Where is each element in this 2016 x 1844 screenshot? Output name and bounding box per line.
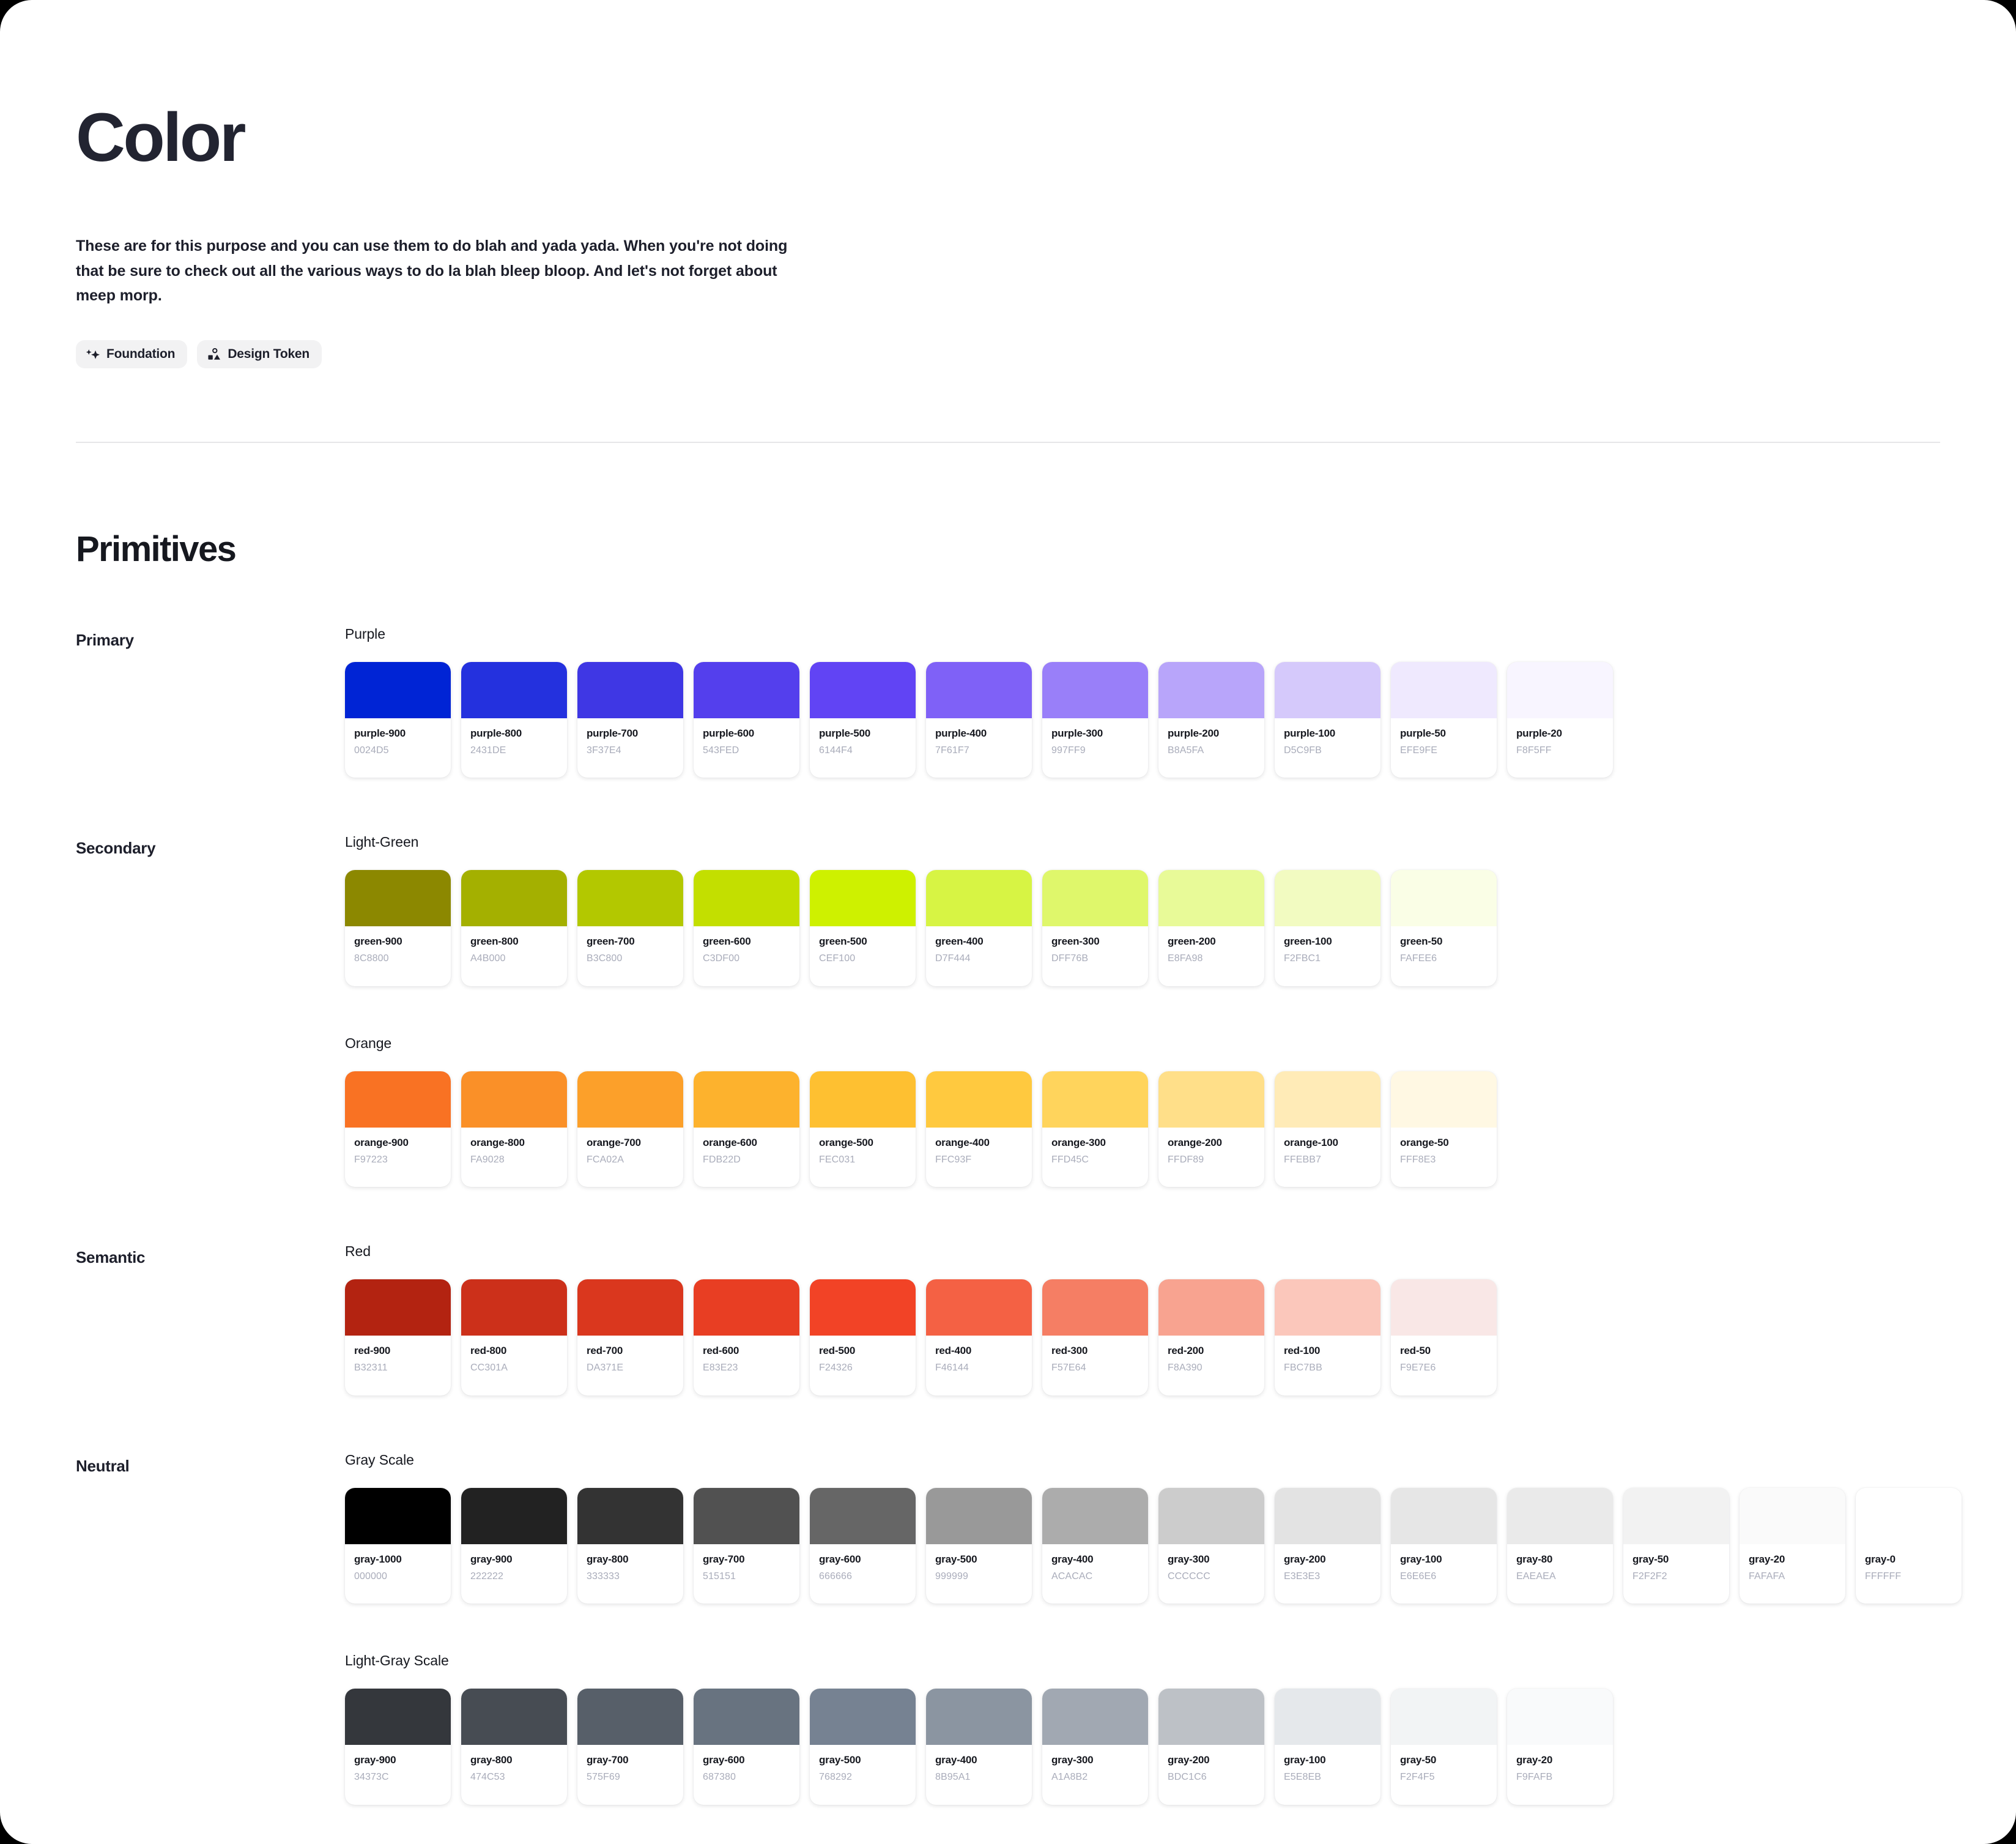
swatch-color-chip — [345, 1279, 451, 1336]
swatch-hex-value: F46144 — [935, 1361, 1023, 1375]
swatch-meta: orange-800FA9028 — [461, 1128, 567, 1188]
swatch-color-chip — [1507, 662, 1613, 718]
swatch-token-name: gray-800 — [470, 1753, 558, 1768]
swatch-meta: gray-800474C53 — [461, 1745, 567, 1805]
color-swatch[interactable]: gray-200E3E3E3 — [1275, 1488, 1380, 1604]
swatch-token-name: gray-300 — [1168, 1553, 1255, 1567]
swatch-token-name: orange-900 — [354, 1136, 442, 1150]
swatch-color-chip — [1391, 1071, 1497, 1128]
swatch-hex-value: 7F61F7 — [935, 744, 1023, 757]
swatch-hex-value: 8B95A1 — [935, 1771, 1023, 1784]
color-swatch[interactable]: green-300DFF76B — [1042, 870, 1148, 986]
swatch-hex-value: EAEAEA — [1516, 1570, 1604, 1583]
swatch-color-chip — [1158, 1689, 1264, 1745]
color-ramp-red: Redred-900B32311red-800CC301Ared-700DA37… — [345, 1243, 1940, 1396]
swatch-meta: orange-500FEC031 — [810, 1128, 916, 1188]
swatch-color-chip — [694, 870, 799, 926]
color-swatch[interactable]: purple-100D5C9FB — [1275, 662, 1380, 778]
color-swatch[interactable]: gray-300A1A8B2 — [1042, 1689, 1148, 1805]
swatch-meta: orange-200FFDF89 — [1158, 1128, 1264, 1188]
color-swatch[interactable]: orange-900F97223 — [345, 1071, 451, 1188]
color-swatch[interactable]: green-700B3C800 — [577, 870, 683, 986]
swatch-color-chip — [926, 1071, 1032, 1128]
color-swatch[interactable]: gray-80EAEAEA — [1507, 1488, 1613, 1604]
swatch-token-name: purple-300 — [1051, 727, 1139, 741]
color-swatch[interactable]: gray-4008B95A1 — [926, 1689, 1032, 1805]
swatch-color-chip — [926, 1488, 1032, 1544]
swatch-row: gray-90034373Cgray-800474C53gray-700575F… — [345, 1689, 1940, 1805]
swatch-hex-value: BDC1C6 — [1168, 1771, 1255, 1784]
swatch-token-name: green-200 — [1168, 935, 1255, 949]
swatch-token-name: green-300 — [1051, 935, 1139, 949]
swatch-color-chip — [345, 1488, 451, 1544]
color-swatch[interactable]: orange-500FEC031 — [810, 1071, 916, 1188]
color-swatch[interactable]: red-800CC301A — [461, 1279, 567, 1396]
swatch-row: gray-1000000000gray-900222222gray-800333… — [345, 1488, 1940, 1604]
swatch-meta: purple-20F8F5FF — [1507, 718, 1613, 778]
swatch-meta: red-500F24326 — [810, 1336, 916, 1396]
swatch-token-name: gray-900 — [354, 1753, 442, 1768]
color-ramp-light-green: Light-Greengreen-9008C8800green-800A4B00… — [345, 834, 1940, 986]
swatch-meta: green-200E8FA98 — [1158, 926, 1264, 986]
swatch-color-chip — [1391, 870, 1497, 926]
color-swatch[interactable]: green-400D7F444 — [926, 870, 1032, 986]
color-swatch[interactable]: gray-800333333 — [577, 1488, 683, 1604]
color-swatch[interactable]: red-500F24326 — [810, 1279, 916, 1396]
color-swatch[interactable]: red-400F46144 — [926, 1279, 1032, 1396]
swatch-hex-value: FA9028 — [470, 1153, 558, 1167]
swatch-hex-value: DA371E — [587, 1361, 674, 1375]
swatch-meta: red-600E83E23 — [694, 1336, 799, 1396]
swatch-hex-value: 687380 — [703, 1771, 790, 1784]
swatch-meta: gray-600666666 — [810, 1544, 916, 1604]
color-swatch[interactable]: orange-300FFD45C — [1042, 1071, 1148, 1188]
swatch-token-name: green-100 — [1284, 935, 1371, 949]
swatch-color-chip — [1042, 1689, 1148, 1745]
swatch-color-chip — [1856, 1488, 1962, 1544]
swatch-token-name: orange-50 — [1400, 1136, 1488, 1150]
swatch-token-name: gray-50 — [1632, 1553, 1720, 1567]
swatch-meta: gray-90034373C — [345, 1745, 451, 1805]
color-swatch[interactable]: gray-300CCCCCC — [1158, 1488, 1264, 1604]
swatch-meta: green-600C3DF00 — [694, 926, 799, 986]
swatch-meta: green-300DFF76B — [1042, 926, 1148, 986]
ramp-name: Gray Scale — [345, 1452, 1940, 1468]
swatch-hex-value: F9FAFB — [1516, 1771, 1604, 1784]
swatch-meta: orange-600FDB22D — [694, 1128, 799, 1188]
color-swatch[interactable]: gray-400ACACAC — [1042, 1488, 1148, 1604]
swatch-hex-value: 222222 — [470, 1570, 558, 1583]
badge-design-token[interactable]: Design Token — [197, 340, 322, 368]
color-swatch[interactable]: gray-500768292 — [810, 1689, 916, 1805]
color-group-semantic: SemanticRedred-900B32311red-800CC301Ared… — [76, 1243, 1940, 1396]
swatch-token-name: red-500 — [819, 1344, 906, 1358]
color-swatch[interactable]: gray-90034373C — [345, 1689, 451, 1805]
swatch-token-name: gray-100 — [1400, 1553, 1488, 1567]
swatch-token-name: orange-700 — [587, 1136, 674, 1150]
color-swatch[interactable]: orange-50FFF8E3 — [1391, 1071, 1497, 1188]
swatch-token-name: gray-400 — [935, 1753, 1023, 1768]
swatch-meta: red-800CC301A — [461, 1336, 567, 1396]
group-label: Primary — [76, 626, 345, 650]
swatch-color-chip — [1391, 1689, 1497, 1745]
swatch-meta: green-400D7F444 — [926, 926, 1032, 986]
swatch-color-chip — [1158, 1279, 1264, 1336]
color-swatch[interactable]: gray-50F2F4F5 — [1391, 1689, 1497, 1805]
swatch-color-chip — [1507, 1689, 1613, 1745]
swatch-color-chip — [1391, 662, 1497, 718]
badge-foundation[interactable]: Foundation — [76, 340, 187, 368]
swatch-meta: green-50FAFEE6 — [1391, 926, 1497, 986]
swatch-meta: red-400F46144 — [926, 1336, 1032, 1396]
swatch-meta: purple-8002431DE — [461, 718, 567, 778]
swatch-color-chip — [461, 870, 567, 926]
swatch-token-name: gray-20 — [1749, 1553, 1836, 1567]
color-swatch[interactable]: green-100F2FBC1 — [1275, 870, 1380, 986]
swatch-color-chip — [810, 870, 916, 926]
swatch-hex-value: C3DF00 — [703, 952, 790, 965]
swatch-meta: red-700DA371E — [577, 1336, 683, 1396]
swatch-token-name: gray-20 — [1516, 1753, 1604, 1768]
swatch-color-chip — [461, 1279, 567, 1336]
swatch-token-name: gray-500 — [935, 1553, 1023, 1567]
swatch-token-name: green-400 — [935, 935, 1023, 949]
color-swatch[interactable]: orange-200FFDF89 — [1158, 1071, 1264, 1188]
color-swatch[interactable]: gray-50F2F2F2 — [1623, 1488, 1729, 1604]
swatch-hex-value: E5E8EB — [1284, 1771, 1371, 1784]
swatch-color-chip — [345, 1689, 451, 1745]
swatch-meta: gray-700515151 — [694, 1544, 799, 1604]
swatch-token-name: orange-200 — [1168, 1136, 1255, 1150]
swatch-meta: purple-50EFE9FE — [1391, 718, 1497, 778]
swatch-token-name: gray-800 — [587, 1553, 674, 1567]
swatch-color-chip — [1507, 1488, 1613, 1544]
swatch-token-name: orange-100 — [1284, 1136, 1371, 1150]
swatch-meta: green-500CEF100 — [810, 926, 916, 986]
swatch-hex-value: CC301A — [470, 1361, 558, 1375]
swatch-meta: gray-200E3E3E3 — [1275, 1544, 1380, 1604]
swatch-meta: gray-400ACACAC — [1042, 1544, 1148, 1604]
swatch-hex-value: F2F2F2 — [1632, 1570, 1720, 1583]
color-ramp-purple: Purplepurple-9000024D5purple-8002431DEpu… — [345, 626, 1940, 778]
swatch-hex-value: F2F4F5 — [1400, 1771, 1488, 1784]
swatch-color-chip — [1158, 1488, 1264, 1544]
swatch-meta: gray-20FAFAFA — [1740, 1544, 1845, 1604]
color-swatch[interactable]: red-200F8A390 — [1158, 1279, 1264, 1396]
page-title: Color — [76, 103, 1940, 173]
swatch-hex-value: A4B000 — [470, 952, 558, 965]
group-label: Neutral — [76, 1452, 345, 1476]
swatch-token-name: green-900 — [354, 935, 442, 949]
color-swatch[interactable]: gray-500999999 — [926, 1488, 1032, 1604]
swatch-hex-value: FFDF89 — [1168, 1153, 1255, 1167]
swatch-hex-value: FFFFFF — [1865, 1570, 1952, 1583]
swatch-hex-value: FDB22D — [703, 1153, 790, 1167]
swatch-row: purple-9000024D5purple-8002431DEpurple-7… — [345, 662, 1940, 778]
swatch-token-name: purple-200 — [1168, 727, 1255, 741]
swatch-token-name: gray-700 — [587, 1753, 674, 1768]
swatch-hex-value: FEC031 — [819, 1153, 906, 1167]
swatch-token-name: green-800 — [470, 935, 558, 949]
swatch-meta: gray-700575F69 — [577, 1745, 683, 1805]
swatch-hex-value: FFD45C — [1051, 1153, 1139, 1167]
swatch-color-chip — [1042, 662, 1148, 718]
color-swatch[interactable]: gray-200BDC1C6 — [1158, 1689, 1264, 1805]
swatch-color-chip — [345, 1071, 451, 1128]
swatch-meta: orange-300FFD45C — [1042, 1128, 1148, 1188]
swatch-hex-value: DFF76B — [1051, 952, 1139, 965]
swatch-color-chip — [577, 1279, 683, 1336]
color-group-primary: PrimaryPurplepurple-9000024D5purple-8002… — [76, 626, 1940, 778]
color-ramp-gray-scale: Gray Scalegray-1000000000gray-900222222g… — [345, 1452, 1940, 1604]
color-swatch[interactable]: gray-100E5E8EB — [1275, 1689, 1380, 1805]
swatch-meta: red-50F9E7E6 — [1391, 1336, 1497, 1396]
swatch-hex-value: 000000 — [354, 1570, 442, 1583]
swatch-meta: orange-900F97223 — [345, 1128, 451, 1188]
swatch-color-chip — [694, 1279, 799, 1336]
swatch-hex-value: E83E23 — [703, 1361, 790, 1375]
swatch-meta: gray-200BDC1C6 — [1158, 1745, 1264, 1805]
color-group-neutral: NeutralGray Scalegray-1000000000gray-900… — [76, 1452, 1940, 1805]
color-swatch[interactable]: green-800A4B000 — [461, 870, 567, 986]
swatch-token-name: green-700 — [587, 935, 674, 949]
color-swatch[interactable]: gray-700515151 — [694, 1488, 799, 1604]
swatch-token-name: orange-400 — [935, 1136, 1023, 1150]
swatch-color-chip — [1158, 1071, 1264, 1128]
swatch-meta: gray-300CCCCCC — [1158, 1544, 1264, 1604]
swatch-token-name: red-700 — [587, 1344, 674, 1358]
header-divider — [76, 442, 1940, 443]
swatch-hex-value: B3C800 — [587, 952, 674, 965]
color-swatch[interactable]: purple-600543FED — [694, 662, 799, 778]
color-swatch[interactable]: red-600E83E23 — [694, 1279, 799, 1396]
swatch-token-name: red-600 — [703, 1344, 790, 1358]
group-label: Semantic — [76, 1243, 345, 1267]
swatch-hex-value: F97223 — [354, 1153, 442, 1167]
color-group-list: PrimaryPurplepurple-9000024D5purple-8002… — [76, 626, 1940, 1844]
swatch-hex-value: F57E64 — [1051, 1361, 1139, 1375]
color-swatch[interactable]: gray-1000000000 — [345, 1488, 451, 1604]
color-swatch[interactable]: gray-20FAFAFA — [1740, 1488, 1845, 1604]
color-swatch[interactable]: purple-20F8F5FF — [1507, 662, 1613, 778]
color-swatch[interactable]: red-900B32311 — [345, 1279, 451, 1396]
swatch-token-name: purple-800 — [470, 727, 558, 741]
swatch-token-name: gray-50 — [1400, 1753, 1488, 1768]
swatch-token-name: gray-200 — [1168, 1753, 1255, 1768]
swatch-token-name: red-900 — [354, 1344, 442, 1358]
swatch-token-name: green-600 — [703, 935, 790, 949]
color-documentation-page: Color These are for this purpose and you… — [0, 0, 2016, 1844]
swatch-meta: gray-4008B95A1 — [926, 1745, 1032, 1805]
color-swatch[interactable]: purple-9000024D5 — [345, 662, 451, 778]
swatch-color-chip — [1158, 870, 1264, 926]
swatch-meta: gray-50F2F2F2 — [1623, 1544, 1729, 1604]
swatch-meta: gray-50F2F4F5 — [1391, 1745, 1497, 1805]
swatch-token-name: red-200 — [1168, 1344, 1255, 1358]
swatch-color-chip — [1042, 870, 1148, 926]
swatch-token-name: green-500 — [819, 935, 906, 949]
swatch-row: orange-900F97223orange-800FA9028orange-7… — [345, 1071, 1940, 1188]
swatch-hex-value: A1A8B2 — [1051, 1771, 1139, 1784]
swatch-hex-value: 6144F4 — [819, 744, 906, 757]
swatch-color-chip — [810, 1689, 916, 1745]
swatch-meta: purple-100D5C9FB — [1275, 718, 1380, 778]
swatch-meta: gray-100E6E6E6 — [1391, 1544, 1497, 1604]
swatch-hex-value: 0024D5 — [354, 744, 442, 757]
swatch-meta: red-300F57E64 — [1042, 1336, 1148, 1396]
color-swatch[interactable]: gray-700575F69 — [577, 1689, 683, 1805]
color-swatch[interactable]: red-100FBC7BB — [1275, 1279, 1380, 1396]
swatch-color-chip — [926, 1689, 1032, 1745]
swatch-token-name: purple-900 — [354, 727, 442, 741]
swatch-token-name: purple-50 — [1400, 727, 1488, 741]
swatch-color-chip — [577, 870, 683, 926]
color-swatch[interactable]: purple-5006144F4 — [810, 662, 916, 778]
swatch-hex-value: 34373C — [354, 1771, 442, 1784]
swatch-color-chip — [1275, 870, 1380, 926]
swatch-meta: gray-80EAEAEA — [1507, 1544, 1613, 1604]
color-swatch[interactable]: green-50FAFEE6 — [1391, 870, 1497, 986]
color-swatch[interactable]: gray-900222222 — [461, 1488, 567, 1604]
swatch-hex-value: FFF8E3 — [1400, 1153, 1488, 1167]
swatch-color-chip — [577, 1071, 683, 1128]
swatch-token-name: purple-500 — [819, 727, 906, 741]
swatch-hex-value: E3E3E3 — [1284, 1570, 1371, 1583]
swatch-color-chip — [1042, 1071, 1148, 1128]
swatch-hex-value: 768292 — [819, 1771, 906, 1784]
color-swatch[interactable]: gray-600687380 — [694, 1689, 799, 1805]
swatch-token-name: gray-100 — [1284, 1753, 1371, 1768]
swatch-meta: purple-300997FF9 — [1042, 718, 1148, 778]
color-swatch[interactable]: green-200E8FA98 — [1158, 870, 1264, 986]
color-swatch[interactable]: purple-300997FF9 — [1042, 662, 1148, 778]
swatch-hex-value: ACACAC — [1051, 1570, 1139, 1583]
swatch-color-chip — [1158, 662, 1264, 718]
swatch-color-chip — [926, 1279, 1032, 1336]
swatch-token-name: red-400 — [935, 1344, 1023, 1358]
color-swatch[interactable]: orange-400FFC93F — [926, 1071, 1032, 1188]
swatch-color-chip — [461, 1488, 567, 1544]
swatch-color-chip — [1623, 1488, 1729, 1544]
ramp-name: Light-Gray Scale — [345, 1653, 1940, 1669]
swatch-token-name: gray-500 — [819, 1753, 906, 1768]
swatch-color-chip — [1391, 1488, 1497, 1544]
swatch-meta: gray-20F9FAFB — [1507, 1745, 1613, 1805]
swatch-token-name: purple-600 — [703, 727, 790, 741]
swatch-token-name: orange-600 — [703, 1136, 790, 1150]
color-swatch[interactable]: gray-800474C53 — [461, 1689, 567, 1805]
swatch-color-chip — [1275, 1071, 1380, 1128]
color-swatch[interactable]: gray-0FFFFFF — [1856, 1488, 1962, 1604]
swatch-hex-value: E8FA98 — [1168, 952, 1255, 965]
swatch-meta: orange-400FFC93F — [926, 1128, 1032, 1188]
swatch-meta: red-200F8A390 — [1158, 1336, 1264, 1396]
swatch-meta: purple-9000024D5 — [345, 718, 451, 778]
color-ramp-orange: Orangeorange-900F97223orange-800FA9028or… — [345, 1035, 1940, 1188]
swatch-token-name: gray-1000 — [354, 1553, 442, 1567]
swatch-token-name: gray-0 — [1865, 1553, 1952, 1567]
swatch-meta: orange-700FCA02A — [577, 1128, 683, 1188]
swatch-token-name: orange-300 — [1051, 1136, 1139, 1150]
group-body: Redred-900B32311red-800CC301Ared-700DA37… — [345, 1243, 1940, 1396]
swatch-color-chip — [1275, 1689, 1380, 1745]
swatch-color-chip — [810, 1488, 916, 1544]
swatch-meta: gray-500768292 — [810, 1745, 916, 1805]
swatch-color-chip — [1391, 1279, 1497, 1336]
badge-design-token-label: Design Token — [228, 347, 309, 362]
color-swatch[interactable]: purple-7003F37E4 — [577, 662, 683, 778]
swatch-color-chip — [810, 1279, 916, 1336]
swatch-color-chip — [577, 1689, 683, 1745]
swatch-color-chip — [577, 1488, 683, 1544]
color-swatch[interactable]: green-600C3DF00 — [694, 870, 799, 986]
group-body: Gray Scalegray-1000000000gray-900222222g… — [345, 1452, 1940, 1805]
swatch-color-chip — [1275, 662, 1380, 718]
swatch-meta: gray-1000000000 — [345, 1544, 451, 1604]
swatch-token-name: purple-400 — [935, 727, 1023, 741]
color-swatch[interactable]: orange-100FFEBB7 — [1275, 1071, 1380, 1188]
swatch-meta: gray-900222222 — [461, 1544, 567, 1604]
swatch-hex-value: 999999 — [935, 1570, 1023, 1583]
color-ramp-light-gray-scale: Light-Gray Scalegray-90034373Cgray-80047… — [345, 1653, 1940, 1805]
color-swatch[interactable]: gray-20F9FAFB — [1507, 1689, 1613, 1805]
color-swatch[interactable]: red-700DA371E — [577, 1279, 683, 1396]
color-swatch[interactable]: orange-600FDB22D — [694, 1071, 799, 1188]
swatch-hex-value: CEF100 — [819, 952, 906, 965]
swatch-row: red-900B32311red-800CC301Ared-700DA371Er… — [345, 1279, 1940, 1396]
swatch-token-name: purple-20 — [1516, 727, 1604, 741]
swatch-meta: purple-200B8A5FA — [1158, 718, 1264, 778]
swatch-meta: gray-0FFFFFF — [1856, 1544, 1962, 1604]
color-swatch[interactable]: purple-8002431DE — [461, 662, 567, 778]
swatch-color-chip — [345, 662, 451, 718]
swatch-color-chip — [810, 662, 916, 718]
color-swatch[interactable]: gray-100E6E6E6 — [1391, 1488, 1497, 1604]
shapes-icon — [207, 348, 221, 361]
swatch-token-name: gray-700 — [703, 1553, 790, 1567]
swatch-color-chip — [577, 662, 683, 718]
section-title-primitives: Primitives — [76, 529, 1940, 570]
swatch-color-chip — [1042, 1488, 1148, 1544]
color-swatch[interactable]: red-50F9E7E6 — [1391, 1279, 1497, 1396]
swatch-token-name: gray-900 — [470, 1553, 558, 1567]
color-swatch[interactable]: green-9008C8800 — [345, 870, 451, 986]
swatch-meta: purple-600543FED — [694, 718, 799, 778]
color-swatch[interactable]: orange-800FA9028 — [461, 1071, 567, 1188]
color-swatch[interactable]: purple-200B8A5FA — [1158, 662, 1264, 778]
color-swatch[interactable]: red-300F57E64 — [1042, 1279, 1148, 1396]
swatch-color-chip — [694, 1071, 799, 1128]
swatch-token-name: purple-700 — [587, 727, 674, 741]
swatch-token-name: orange-800 — [470, 1136, 558, 1150]
swatch-hex-value: F8F5FF — [1516, 744, 1604, 757]
color-swatch[interactable]: gray-600666666 — [810, 1488, 916, 1604]
page-description: These are for this purpose and you can u… — [76, 234, 798, 308]
swatch-token-name: gray-600 — [703, 1753, 790, 1768]
swatch-color-chip — [461, 1689, 567, 1745]
color-swatch[interactable]: purple-50EFE9FE — [1391, 662, 1497, 778]
sparkles-icon — [86, 348, 100, 361]
swatch-hex-value: F8A390 — [1168, 1361, 1255, 1375]
swatch-hex-value: FFC93F — [935, 1153, 1023, 1167]
color-swatch[interactable]: green-500CEF100 — [810, 870, 916, 986]
swatch-meta: gray-500999999 — [926, 1544, 1032, 1604]
swatch-meta: gray-100E5E8EB — [1275, 1745, 1380, 1805]
color-swatch[interactable]: purple-4007F61F7 — [926, 662, 1032, 778]
swatch-meta: orange-50FFF8E3 — [1391, 1128, 1497, 1188]
color-swatch[interactable]: orange-700FCA02A — [577, 1071, 683, 1188]
swatch-color-chip — [810, 1071, 916, 1128]
